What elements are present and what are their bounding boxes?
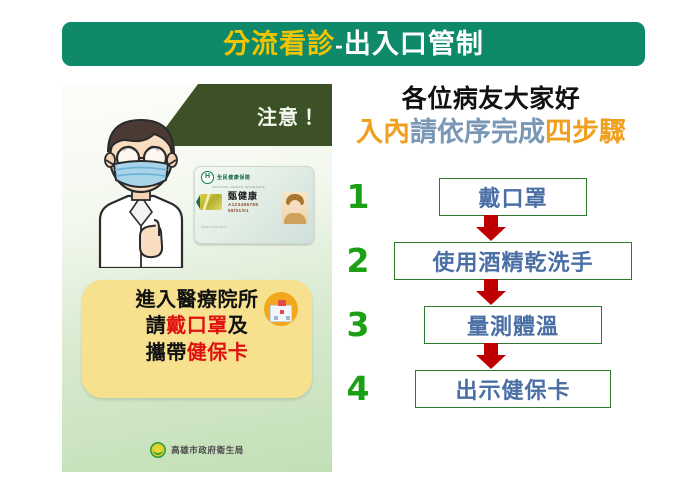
step-box[interactable]: 出示健保卡 [415,370,611,408]
step-row: 4 出示健保卡 [336,368,646,410]
masked-doctor-icon [78,108,204,268]
footer-organization-name: 高雄市政府衛生局 [171,444,244,456]
step-label: 量測體溫 [467,309,559,341]
step-label: 戴口罩 [478,181,547,213]
attention-badge-label: 注意！ [257,101,320,130]
instruction-part1: 入內 [356,117,410,147]
page-title-rest: 出入口管制 [344,29,484,59]
step-row: 1 戴口罩 [336,176,646,218]
arrow-connector [336,218,646,240]
callout-box: 進入醫療院所 請戴口罩及 攜帶健保卡 [82,280,312,398]
page-title-dash: - [335,32,344,58]
right-panel: 各位病友大家好 入內請依序完成四步驟 1 戴口罩 2 [336,84,646,472]
step-label: 使用酒精乾洗手 [432,245,593,277]
photo-body [284,213,306,224]
step-row: 2 使用酒精乾洗手 [336,240,646,282]
step-number: 3 [336,304,380,346]
step-box[interactable]: 使用酒精乾洗手 [394,242,632,280]
health-insurance-card: H 全民健康保險 NATIONAL HEALTH INSURANCE 甄健康 A… [194,166,314,244]
poster-root: 分流看診-出入口管制 注意！ [0,0,700,495]
instruction-text: 入內請依序完成四步驟 [336,118,646,148]
health-card-photo [282,192,308,224]
step-number: 2 [336,240,380,282]
callout-line-3: 攜帶健保卡 [82,340,312,366]
step-box-wrapper: 出示健保卡 [380,370,646,408]
callout-line-2-prefix: 請 [146,315,167,337]
arrow-head [476,227,506,241]
step-box-wrapper: 使用酒精乾洗手 [380,242,646,280]
callout-line-3-prefix: 攜帶 [146,342,187,364]
health-card-name: 甄健康 [228,191,278,202]
poster-header-bar: 分流看診-出入口管制 [62,22,645,66]
health-card-title: 全民健康保險 [217,174,251,181]
health-card-body: 甄健康 A123456789 58/01/01 [195,189,313,224]
arrow-connector [336,346,646,368]
hospital-building-shape [270,305,292,322]
steps-flow: 1 戴口罩 2 使用酒精乾洗手 [336,176,646,410]
step-number: 4 [336,368,380,410]
arrow-head [476,291,506,305]
step-box[interactable]: 量測體溫 [424,306,602,344]
photo-face [289,200,301,213]
step-label: 出示健保卡 [455,373,570,405]
health-card-info: 甄健康 A123456789 58/01/01 [226,191,278,224]
step-box-wrapper: 量測體溫 [380,306,646,344]
left-panel: 注意！ [62,84,332,472]
step-number: 1 [336,176,380,218]
callout-line-3-highlight: 健保卡 [187,342,249,364]
page-title-highlight: 分流看診 [223,29,335,59]
health-card-birthdate: 58/01/01 [228,208,278,214]
instruction-part2: 請依序完成 [410,117,545,147]
hospital-building-icon [264,292,298,326]
greeting-text: 各位病友大家好 [336,86,646,114]
page-title: 分流看診-出入口管制 [223,31,484,58]
step-box-wrapper: 戴口罩 [380,178,646,216]
health-card-header: H 全民健康保險 [195,167,313,184]
step-box[interactable]: 戴口罩 [439,178,587,216]
arrow-connector [336,282,646,304]
chip-icon [200,194,222,210]
arrow-head [476,355,506,369]
health-card-footer-code: 0000 1234 5678 [195,225,313,229]
footer-credit: 高雄市政府衛生局 [62,442,332,458]
callout-line-1-prefix: 進入醫療院所 [136,289,259,311]
health-card-logo-icon: H [201,171,214,184]
callout-line-2-suffix: 及 [228,315,249,337]
instruction-part3: 四步驟 [545,117,626,147]
health-bureau-logo-icon [150,442,166,458]
step-row: 3 量測體溫 [336,304,646,346]
callout-line-2-highlight: 戴口罩 [166,315,228,337]
